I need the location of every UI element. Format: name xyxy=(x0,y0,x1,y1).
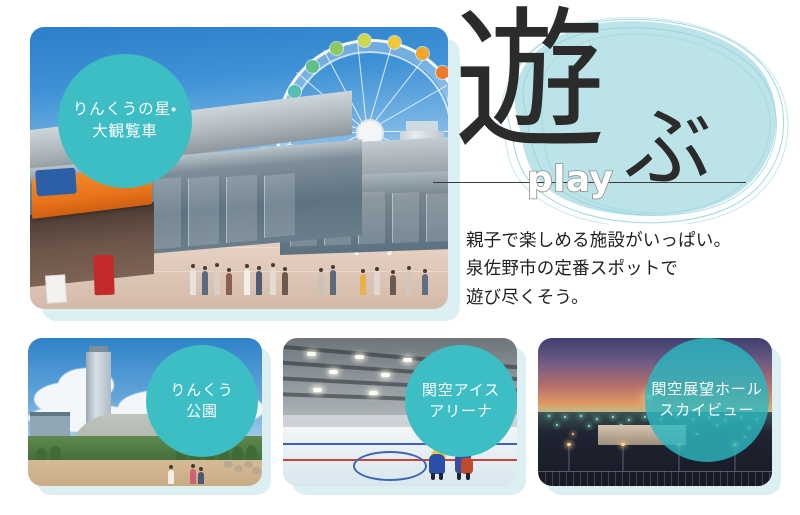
thumbnail-label-kanku-ice-arena[interactable]: 関空アイス アリーナ xyxy=(405,345,517,457)
hero-label-bubble[interactable]: りんくうの星・ 大観覧車 xyxy=(58,54,192,188)
thumbnail-label-line2: スカイビュー xyxy=(659,400,754,421)
description-line-1: 親子で楽しめる施設がいっぱい。 xyxy=(466,226,786,254)
description-line-2: 泉佐野市の定番スポットで xyxy=(466,254,786,282)
promo-banner: りんくうの星・ 大観覧車 遊 ぶ play 親子で楽しめる施設がいっぱい。 泉佐… xyxy=(0,0,800,515)
thumbnail-label-line2: アリーナ xyxy=(429,401,493,422)
thumbnail-label-line1: 関空展望ホール xyxy=(651,379,762,400)
thumbnail-label-rinku-park[interactable]: りんくう 公園 xyxy=(146,345,258,457)
banner-sign xyxy=(93,255,114,296)
hero-label-line1: りんくうの星・ xyxy=(73,99,177,121)
perimeter-fence xyxy=(538,471,772,486)
a-board-sign xyxy=(45,274,67,303)
description-line-3: 遊び尽くそう。 xyxy=(466,283,786,311)
shop-sign xyxy=(35,168,77,197)
title-kanji: 遊 xyxy=(454,6,603,158)
hero-label-line2: 大観覧車 xyxy=(92,121,158,143)
title-romaji: play xyxy=(527,159,613,200)
description-text: 親子で楽しめる施設がいっぱい。 泉佐野市の定番スポットで 遊び尽くそう。 xyxy=(466,226,786,311)
thumbnail-label-line2: 公園 xyxy=(186,401,218,422)
thumbnail-label-line1: りんくう xyxy=(170,380,233,401)
thumbnail-label-line1: 関空アイス xyxy=(422,380,500,401)
title-block: 遊 ぶ play 親子で楽しめる施設がいっぱい。 泉佐野市の定番スポットで 遊び… xyxy=(452,18,792,318)
thumbnail-label-kanku-sky-view[interactable]: 関空展望ホール スカイビュー xyxy=(645,338,769,462)
title-kana: ぶ xyxy=(624,104,712,192)
